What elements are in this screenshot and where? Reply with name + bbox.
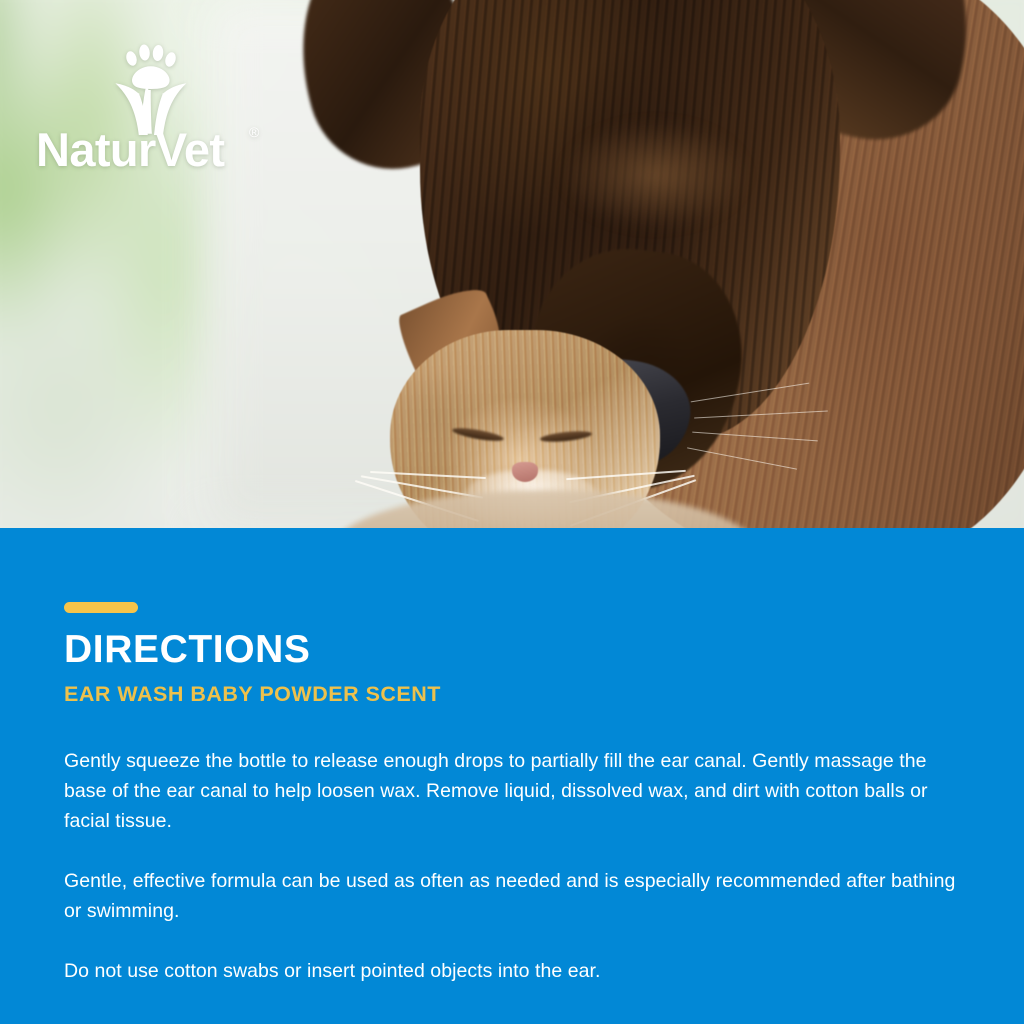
logo-wordmark: NaturVet [36, 123, 225, 173]
cat-body [330, 490, 760, 528]
accent-bar [64, 602, 138, 613]
page-title: DIRECTIONS [64, 630, 311, 669]
directions-paragraph: Gentle, effective formula can be used as… [64, 866, 964, 926]
paw-print-with-grass-icon [115, 44, 186, 135]
directions-paragraph: Gently squeeze the bottle to release eno… [64, 746, 964, 836]
product-subtitle: EAR WASH BABY POWDER SCENT [64, 684, 441, 706]
naturvet-logo: NaturVet ® [36, 38, 276, 173]
directions-panel: DIRECTIONS EAR WASH BABY POWDER SCENT Ge… [0, 528, 1024, 1024]
hero-photo: NaturVet ® [0, 0, 1024, 528]
product-directions-page: NaturVet ® DIRECTIONS EAR WASH BABY POWD… [0, 0, 1024, 1024]
directions-body: Gently squeeze the bottle to release eno… [64, 746, 964, 986]
directions-paragraph: Do not use cotton swabs or insert pointe… [64, 956, 964, 986]
registered-trademark-symbol: ® [249, 124, 260, 140]
